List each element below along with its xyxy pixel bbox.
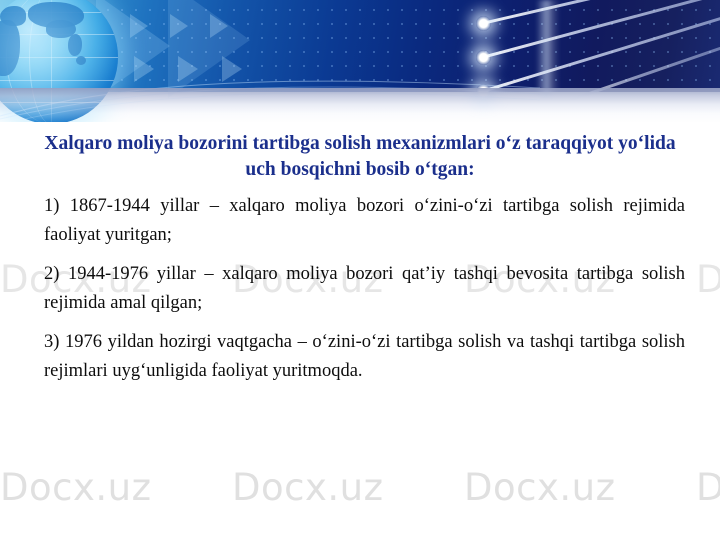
paragraph-item: 2) 1944-1976 yillar – xalqaro moliya boz… <box>44 260 685 318</box>
paragraph-item: 1) 1867-1944 yillar – xalqaro moliya boz… <box>44 192 685 250</box>
paragraph-item: 3) 1976 yildan hozirgi vaqtgacha – oʻzin… <box>44 328 685 386</box>
slide: Docx.uzDocx.uzDocx.uzDoc Docx.uzDocx.uzD… <box>0 0 720 540</box>
body-text-block: 1) 1867-1944 yillar – xalqaro moliya boz… <box>44 192 685 386</box>
slide-content: Xalqaro moliya bozorini tartibga solish … <box>0 0 720 540</box>
page-title: Xalqaro moliya bozorini tartibga solish … <box>44 131 676 183</box>
